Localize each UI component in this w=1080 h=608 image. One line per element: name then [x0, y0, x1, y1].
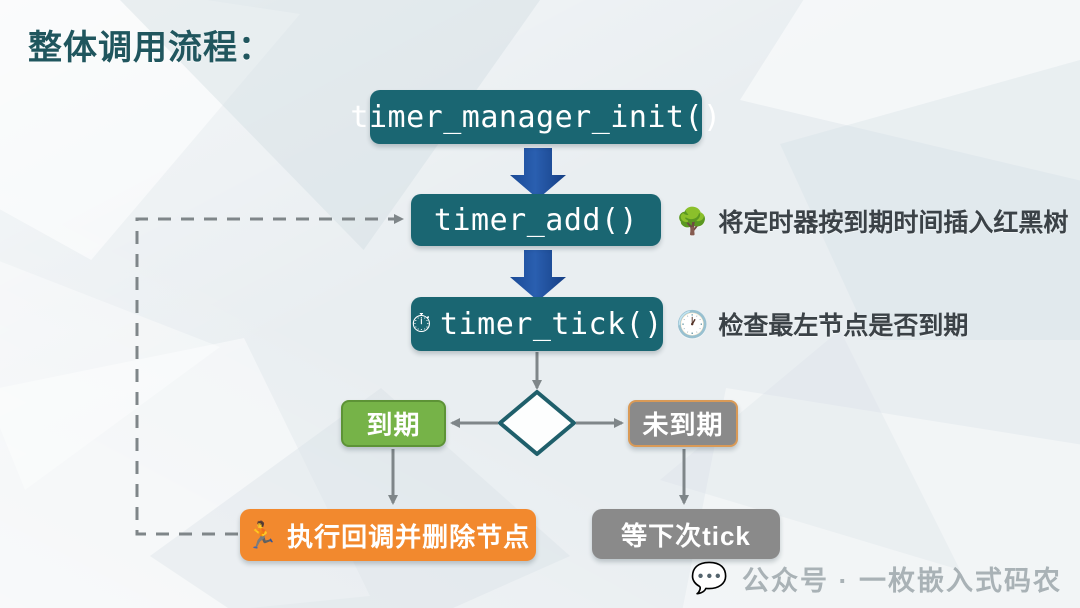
annotation-text: 检查最左节点是否到期: [718, 306, 968, 342]
node-label: 执行回调并删除节点: [287, 517, 530, 554]
node-label: timer_add(): [434, 203, 638, 238]
arrow-init-to-add: [510, 148, 566, 199]
background-shard: [0, 230, 220, 490]
slide-canvas: 整体调用流程：: [0, 0, 1080, 608]
node-timer-tick[interactable]: ⏱ timer_tick(): [411, 297, 663, 351]
node-due[interactable]: 到期: [341, 400, 446, 447]
node-not-due[interactable]: 未到期: [628, 400, 738, 447]
watermark: 💬 公众号 · 一枚嵌入式码农: [691, 559, 1062, 598]
arrow-add-to-tick: [510, 250, 566, 301]
annotation-check-leftmost-node: 🕐 检查最左节点是否到期: [676, 306, 968, 342]
annotation-text: 将定时器按到期时间插入红黑树: [718, 203, 1068, 239]
node-label: timer_manager_init(): [350, 100, 721, 135]
node-wait-next-tick[interactable]: 等下次tick: [592, 509, 780, 559]
background-shard: [0, 338, 370, 608]
tree-icon: 🌳: [676, 206, 708, 237]
clock-icon: 🕐: [676, 309, 708, 340]
watermark-text: 公众号 · 一枚嵌入式码农: [742, 559, 1062, 598]
running-person-icon: 🏃: [246, 522, 279, 548]
decision-diamond[interactable]: [500, 392, 574, 454]
node-execute-callback-delete[interactable]: 🏃 执行回调并删除节点: [240, 509, 536, 561]
background-shard: [780, 60, 1080, 340]
node-timer-manager-init[interactable]: timer_manager_init(): [370, 90, 702, 144]
node-label: 到期: [366, 405, 420, 442]
node-label: timer_tick(): [440, 307, 663, 342]
node-label: 未到期: [642, 405, 723, 442]
feedback-dashed-loop: [137, 219, 402, 534]
annotation-insert-into-rbtree: 🌳 将定时器按到期时间插入红黑树: [676, 203, 1068, 239]
stopwatch-icon: ⏱: [411, 311, 432, 337]
node-timer-add[interactable]: timer_add(): [411, 194, 661, 246]
wechat-icon: 💬: [691, 561, 730, 596]
node-label: 等下次tick: [621, 516, 751, 553]
page-title: 整体调用流程：: [28, 20, 273, 69]
